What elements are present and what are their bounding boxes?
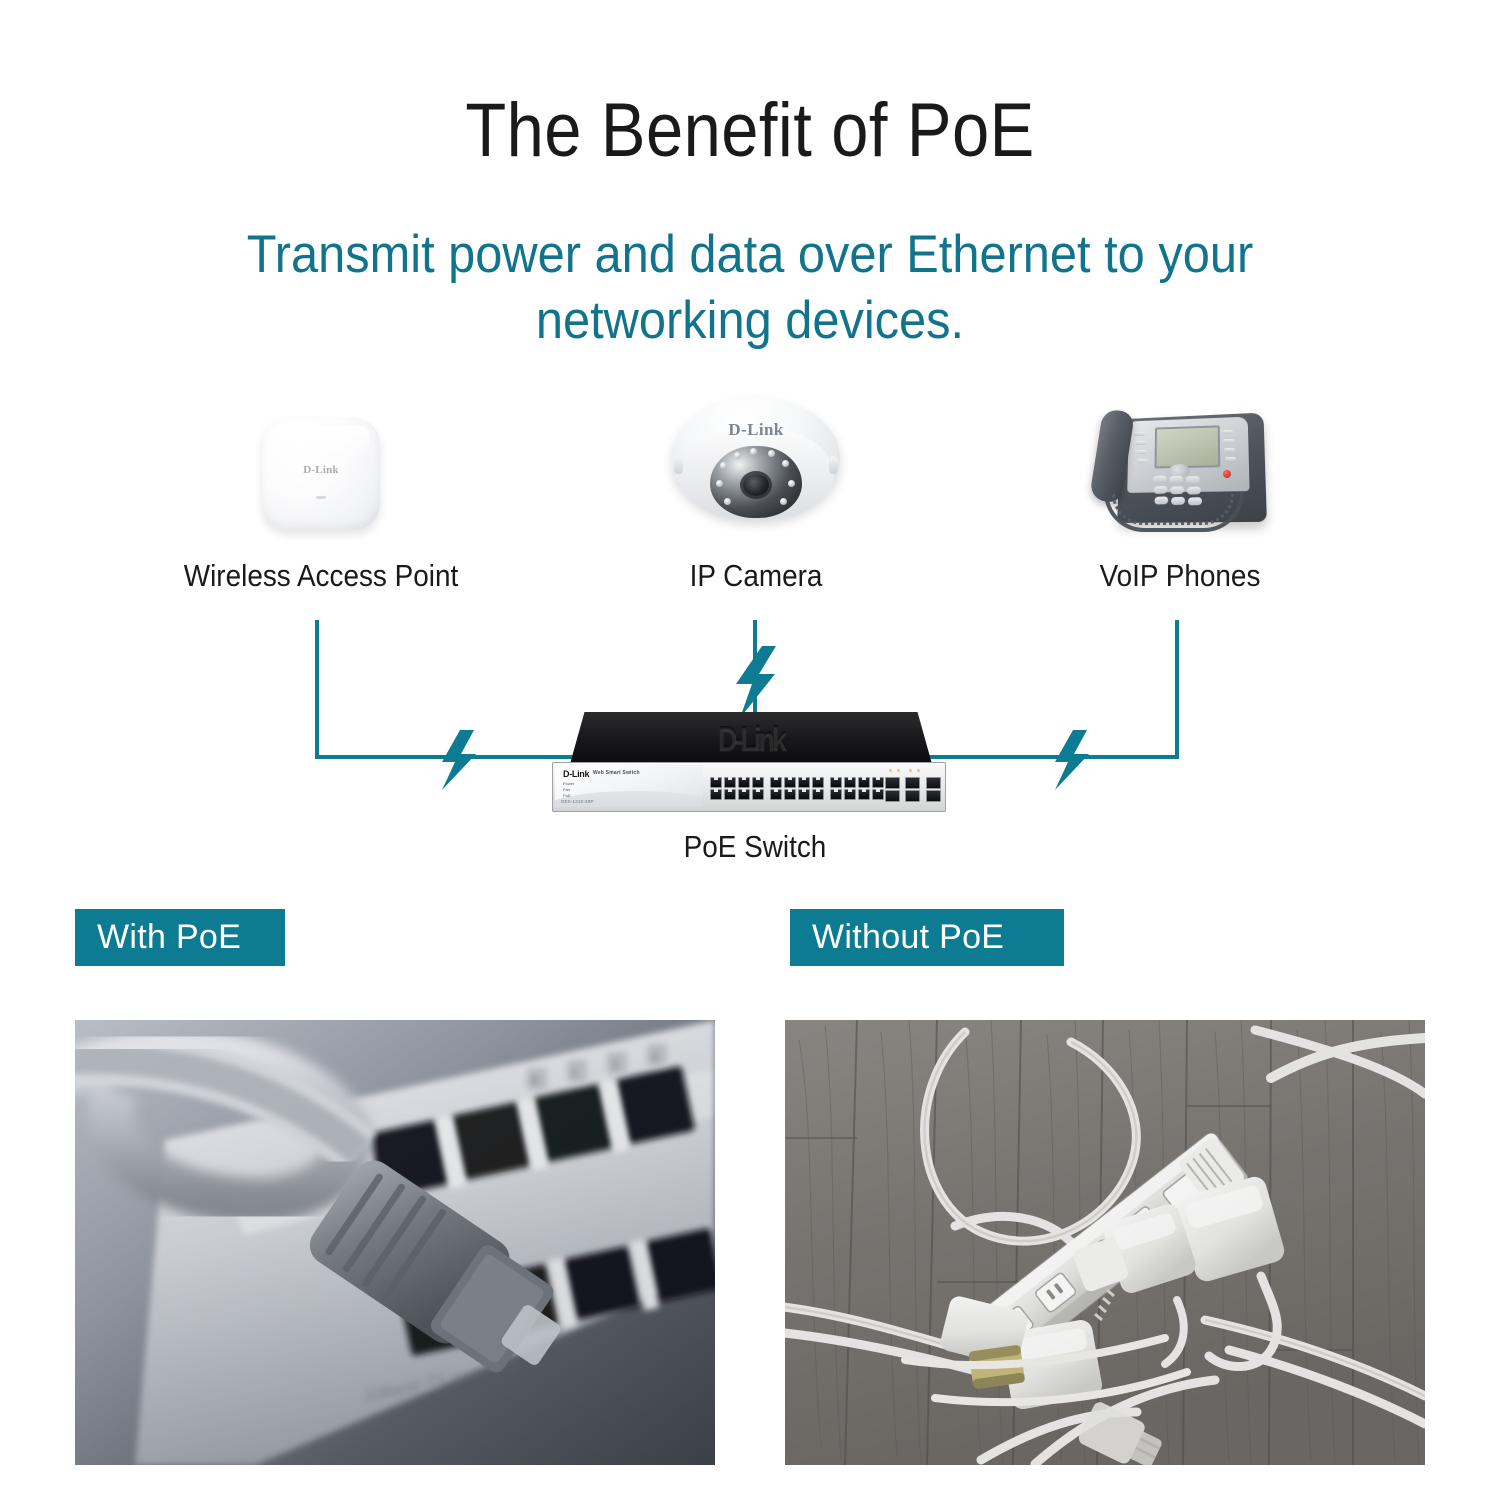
- badge-with-poe-label: With PoE: [97, 918, 241, 957]
- rj45-port: [710, 789, 722, 800]
- phone-side-key: [1224, 448, 1235, 452]
- ir-led: [768, 450, 775, 457]
- camera-tab-right: [829, 456, 838, 474]
- ir-led: [780, 498, 787, 505]
- rj45-port: [752, 789, 764, 800]
- rj45-port: [830, 789, 842, 800]
- rj45-port: [770, 789, 782, 800]
- uplink-port: [885, 777, 900, 789]
- device-label-wireless-access-point: Wireless Access Point: [132, 558, 510, 594]
- dlink-logo-camera: D-Link: [672, 420, 840, 440]
- rj45-port: [752, 777, 764, 788]
- sfp-port: [926, 777, 941, 789]
- sfp-port-group: [926, 777, 941, 802]
- phone-lcd-screen: [1155, 425, 1221, 468]
- port-group-2: [770, 777, 824, 800]
- ir-led: [750, 448, 757, 455]
- rj45-port: [844, 777, 856, 788]
- rj45-port: [798, 777, 810, 788]
- ir-led: [788, 480, 795, 487]
- phone-coiled-cord-detail: [1112, 494, 1234, 525]
- rj45-port: [830, 777, 842, 788]
- uplink-port: [905, 790, 920, 802]
- rj45-port: [784, 789, 796, 800]
- infographic-page: The Benefit of PoE Transmit power and da…: [0, 0, 1500, 1500]
- rj45-port: [872, 777, 884, 788]
- device-label-voip-phones: VoIP Phones: [991, 558, 1369, 594]
- page-subtitle: Transmit power and data over Ethernet to…: [226, 222, 1275, 354]
- switch-model-number: DES-1210-28P: [561, 799, 594, 804]
- phone-side-key: [1225, 457, 1236, 461]
- ir-led: [716, 480, 723, 487]
- phone-side-key: [1136, 450, 1147, 454]
- voip-phone-icon: [1090, 396, 1272, 532]
- phone-side-key: [1222, 430, 1233, 434]
- switch-top-panel: D-Link: [570, 712, 932, 764]
- ethernet-cable-photo: 81 34 10Base-TX ports are: [75, 1020, 715, 1465]
- dlink-logo-wap: D-Link: [262, 464, 380, 476]
- port-group-3: [830, 777, 884, 800]
- phone-side-key: [1223, 439, 1234, 443]
- keypad-key: [1153, 475, 1167, 483]
- sfp-port: [926, 790, 941, 802]
- uplink-port: [905, 777, 920, 789]
- phone-side-key: [1134, 432, 1145, 436]
- ip-camera-icon: D-Link: [672, 398, 840, 530]
- uplink-led: [889, 769, 892, 772]
- photo-without-poe: [785, 1020, 1425, 1465]
- badge-with-poe: With PoE: [75, 909, 285, 966]
- photo-with-poe: 81 34 10Base-TX ports are: [75, 1020, 715, 1465]
- rj45-port: [798, 789, 810, 800]
- device-label-ip-camera: IP Camera: [567, 558, 945, 594]
- camera-tab-left: [674, 456, 683, 474]
- wireless-access-point-icon: D-Link: [262, 418, 380, 530]
- uplink-port-group-2: [905, 777, 920, 802]
- page-title: The Benefit of PoE: [90, 88, 1410, 174]
- rj45-port: [724, 777, 736, 788]
- switch-front-panel: D-Link Web Smart Switch Power Fan PoE DE…: [552, 762, 946, 812]
- camera-lens: [743, 474, 769, 496]
- badge-without-poe-label: Without PoE: [812, 918, 1004, 957]
- rj45-port: [844, 789, 856, 800]
- dlink-embossed-logo: D-Link: [570, 720, 932, 759]
- lightning-bolt-icon: [442, 730, 476, 790]
- rj45-port: [784, 777, 796, 788]
- device-label-poe-switch: PoE Switch: [566, 829, 944, 865]
- keypad-key: [1186, 476, 1200, 484]
- rj45-port: [858, 777, 870, 788]
- rj45-port: [872, 789, 884, 800]
- rj45-port: [858, 789, 870, 800]
- switch-brand-label: D-Link: [563, 769, 589, 779]
- ir-led: [720, 462, 727, 469]
- uplink-led: [897, 769, 900, 772]
- rj45-port: [738, 777, 750, 788]
- lightning-bolt-icon: [1055, 730, 1089, 790]
- uplink-port: [885, 790, 900, 802]
- badge-without-poe: Without PoE: [790, 909, 1064, 966]
- rj45-port: [812, 777, 824, 788]
- uplink-led: [917, 769, 920, 772]
- poe-switch-icon: D-Link D-Link Web Smart Switch Power Fan…: [552, 712, 944, 812]
- phone-side-key: [1137, 459, 1148, 463]
- rj45-port: [738, 789, 750, 800]
- switch-model-label: Web Smart Switch: [593, 770, 640, 776]
- switch-left-panel: D-Link Web Smart Switch Power Fan PoE DE…: [555, 765, 703, 807]
- status-led: [316, 496, 326, 499]
- uplink-port-group-1: [885, 777, 900, 802]
- rj45-port: [770, 777, 782, 788]
- camera-dome: [710, 446, 802, 518]
- connector-line-wireless-access-point: [317, 620, 585, 757]
- port-group-1: [710, 777, 764, 800]
- power-strip-photo: [785, 1020, 1425, 1465]
- keypad-key: [1169, 476, 1183, 484]
- uplink-led: [909, 769, 912, 772]
- connector-line-voip-phones: [925, 620, 1177, 757]
- ir-led: [734, 452, 741, 459]
- ir-led: [724, 498, 731, 505]
- phone-message-led: [1223, 470, 1231, 478]
- switch-led-legend: Power Fan PoE: [563, 781, 574, 799]
- rj45-port: [724, 789, 736, 800]
- ir-led: [782, 460, 789, 467]
- rj45-port: [710, 777, 722, 788]
- phone-side-key: [1135, 441, 1146, 445]
- rj45-port: [812, 789, 824, 800]
